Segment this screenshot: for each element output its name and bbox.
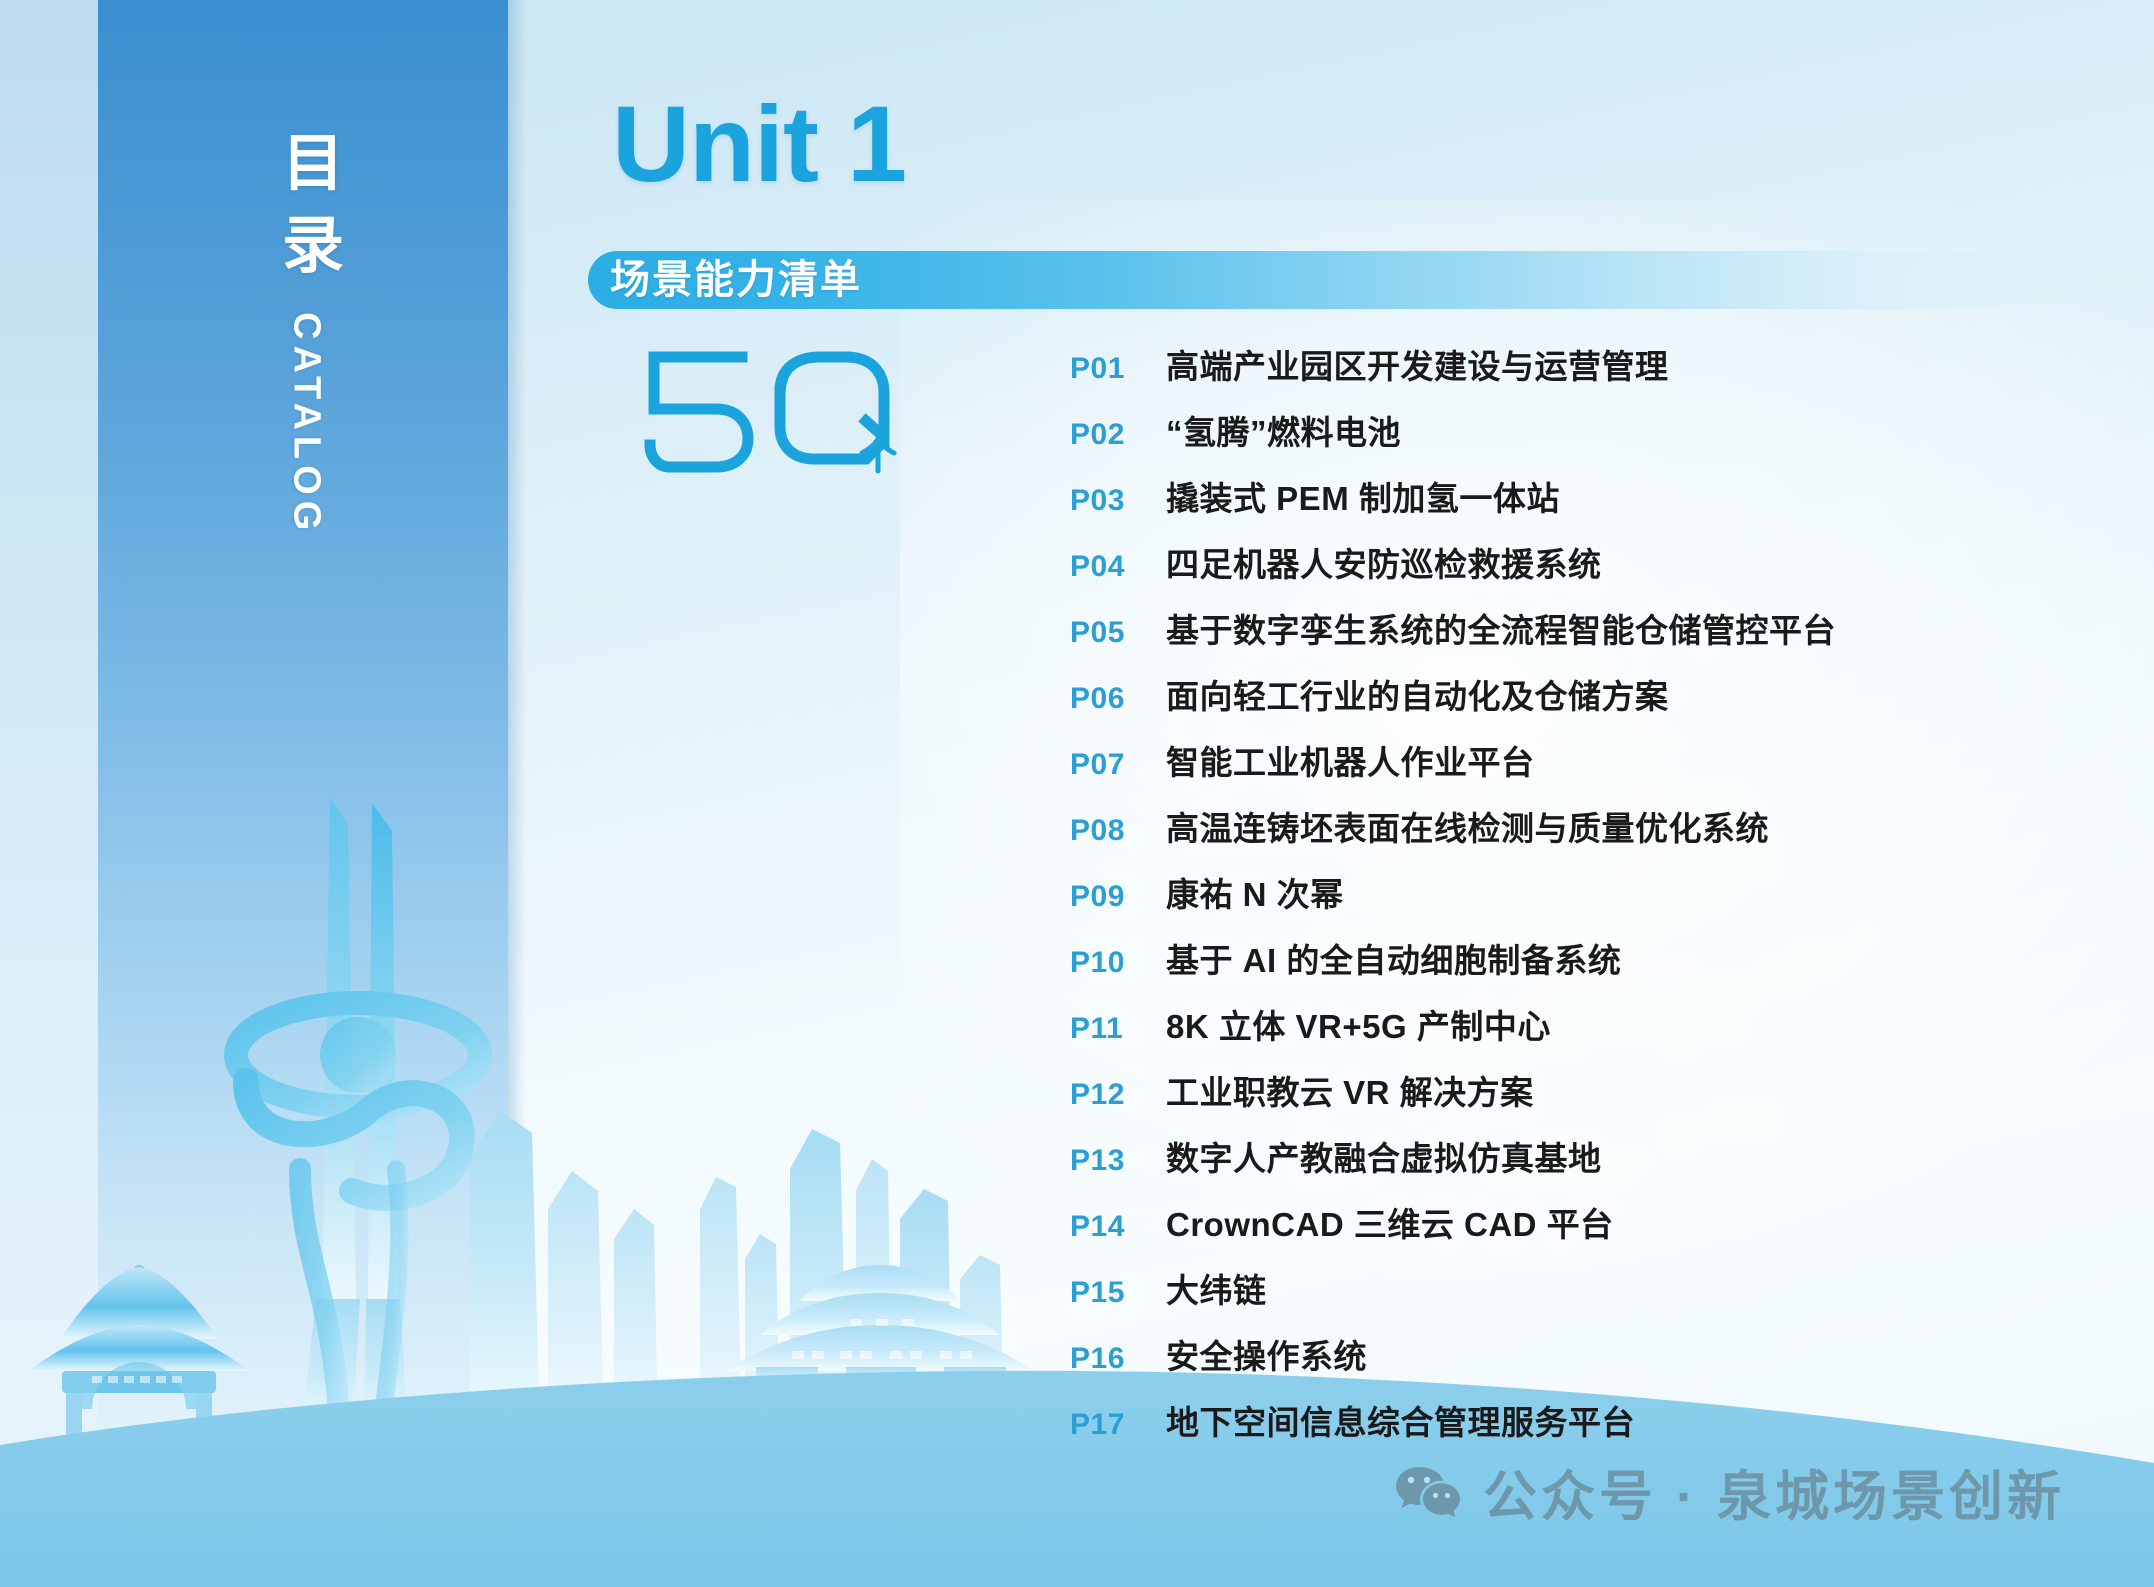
list-item-page: P14 [1070, 1210, 1166, 1244]
page-title: Unit 1 [612, 90, 906, 198]
list-item-title: 基于 AI 的全自动细胞制备系统 [1166, 934, 1621, 982]
count-graphic: 个 [630, 345, 910, 475]
list-item-title: 四足机器人安防巡检救援系统 [1166, 538, 1602, 586]
count-number-50 [630, 345, 910, 475]
list-item-page: P13 [1070, 1144, 1166, 1178]
list-item[interactable]: P05 基于数字孪生系统的全流程智能仓储管控平台 [1070, 604, 2010, 670]
list-item-page: P06 [1070, 682, 1166, 716]
list-item-title: 面向轻工行业的自动化及仓储方案 [1166, 670, 1669, 718]
watermark: 公众号 · 泉城场景创新 [1395, 1452, 2065, 1531]
catalog-label-group: 目录 CATALOG [246, 130, 366, 550]
list-item[interactable]: P11 8K 立体 VR+5G 产制中心 [1070, 1000, 2010, 1066]
list-item-page: P09 [1070, 880, 1166, 914]
watermark-text: 公众号 · 泉城场景创新 [1483, 1452, 2065, 1531]
list-item-title: 工业职教云 VR 解决方案 [1166, 1066, 1534, 1114]
list-item-title: 数字人产教融合虚拟仿真基地 [1166, 1132, 1602, 1180]
section-banner-label: 场景能力清单 [588, 251, 862, 309]
slide-page: 目录 CATALOG [0, 0, 2154, 1587]
list-item-title: “氢腾”燃料电池 [1166, 406, 1401, 454]
list-item[interactable]: P10 基于 AI 的全自动细胞制备系统 [1070, 934, 2010, 1000]
list-item-title: 8K 立体 VR+5G 产制中心 [1166, 1000, 1551, 1048]
list-item-page: P12 [1070, 1078, 1166, 1112]
catalog-list: P01 高端产业园区开发建设与运营管理 P02 “氢腾”燃料电池 P03 撬装式… [1070, 340, 2010, 1462]
list-item-page: P08 [1070, 814, 1166, 848]
catalog-title-en: CATALOG [285, 312, 328, 536]
list-item-title: 高端产业园区开发建设与运营管理 [1166, 340, 1669, 388]
catalog-title-cn: 目录 [275, 130, 337, 294]
section-banner: 场景能力清单 [588, 251, 2088, 309]
list-item[interactable]: P15 大纬链 [1070, 1264, 2010, 1330]
list-item[interactable]: P06 面向轻工行业的自动化及仓储方案 [1070, 670, 2010, 736]
list-item-title: 康祐 N 次幂 [1166, 868, 1344, 916]
list-item-title: 智能工业机器人作业平台 [1166, 736, 1535, 784]
list-item-title: 大纬链 [1166, 1264, 1267, 1312]
list-item[interactable]: P16 安全操作系统 [1070, 1330, 2010, 1396]
list-item-title: 高温连铸坯表面在线检测与质量优化系统 [1166, 802, 1769, 850]
list-item-page: P10 [1070, 946, 1166, 980]
list-item-page: P07 [1070, 748, 1166, 782]
list-item-title: 地下空间信息综合管理服务平台 [1166, 1396, 1635, 1444]
list-item[interactable]: P03 撬装式 PEM 制加氢一体站 [1070, 472, 2010, 538]
list-item[interactable]: P14 CrownCAD 三维云 CAD 平台 [1070, 1198, 2010, 1264]
list-item-title: 安全操作系统 [1166, 1330, 1367, 1378]
list-item[interactable]: P01 高端产业园区开发建设与运营管理 [1070, 340, 2010, 406]
list-item-page: P04 [1070, 550, 1166, 584]
list-item-page: P15 [1070, 1276, 1166, 1310]
list-item-title: 撬装式 PEM 制加氢一体站 [1166, 472, 1560, 520]
list-item[interactable]: P12 工业职教云 VR 解决方案 [1070, 1066, 2010, 1132]
list-item[interactable]: P09 康祐 N 次幂 [1070, 868, 2010, 934]
list-item[interactable]: P02 “氢腾”燃料电池 [1070, 406, 2010, 472]
list-item[interactable]: P07 智能工业机器人作业平台 [1070, 736, 2010, 802]
list-item[interactable]: P04 四足机器人安防巡检救援系统 [1070, 538, 2010, 604]
list-item-title: CrownCAD 三维云 CAD 平台 [1166, 1198, 1614, 1246]
list-item[interactable]: P13 数字人产教融合虚拟仿真基地 [1070, 1132, 2010, 1198]
list-item-page: P03 [1070, 484, 1166, 518]
list-item-page: P17 [1070, 1408, 1166, 1442]
list-item-title: 基于数字孪生系统的全流程智能仓储管控平台 [1166, 604, 1836, 652]
list-item-page: P01 [1070, 352, 1166, 386]
list-item-page: P05 [1070, 616, 1166, 650]
list-item-page: P11 [1070, 1012, 1166, 1046]
list-item-page: P16 [1070, 1342, 1166, 1376]
wechat-icon [1395, 1464, 1461, 1520]
list-item[interactable]: P08 高温连铸坯表面在线检测与质量优化系统 [1070, 802, 2010, 868]
list-item-page: P02 [1070, 418, 1166, 452]
